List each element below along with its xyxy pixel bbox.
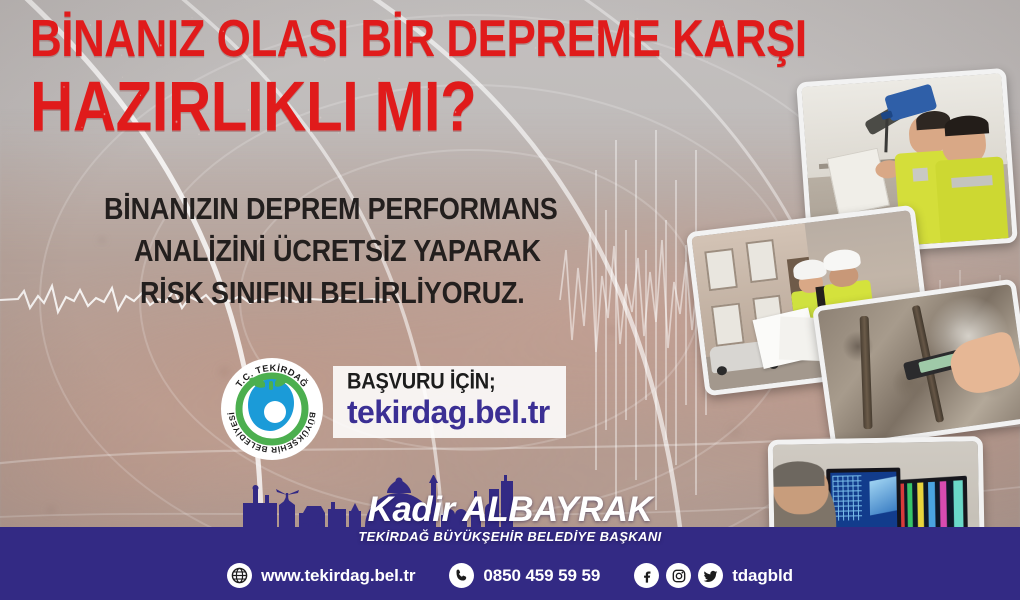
headline-line-2-text: HAZIRLIKLI MI?	[30, 74, 476, 139]
footer-social-handle[interactable]: tdagbld	[732, 566, 793, 586]
phone-icon	[449, 563, 474, 588]
globe-icon	[227, 563, 252, 588]
body-line-3: RİSK SINIFINI BELİRLİYORUZ.	[140, 278, 664, 308]
headline-line-1: BİNANIZ OLASI BİR DEPREME KARŞI	[30, 16, 710, 64]
footer-bar: www.tekirdag.bel.tr 0850 459 59 59	[0, 527, 1020, 600]
photo-collage	[680, 0, 1020, 600]
apply-url[interactable]: tekirdag.bel.tr	[347, 396, 550, 430]
facebook-icon[interactable]	[634, 563, 659, 588]
headline-block: BİNANIZ OLASI BİR DEPREME KARŞI HAZIRLIK…	[30, 16, 710, 130]
city-skyline-silhouette	[235, 475, 515, 527]
footer-social-group[interactable]: tdagbld	[634, 563, 793, 588]
social-icons	[634, 563, 723, 588]
apply-panel: BAŞVURU İÇİN; tekirdag.bel.tr	[333, 366, 566, 438]
municipality-logo: T.C. TEKİRDAĞ BÜYÜKŞEHİR BELEDİYESİ	[220, 357, 324, 461]
footer-phone[interactable]: 0850 459 59 59	[483, 566, 600, 586]
instagram-icon[interactable]	[666, 563, 691, 588]
body-copy-block: BİNANIZIN DEPREM PERFORMANS ANALİZİNİ ÜC…	[104, 196, 664, 322]
footer-contact-row: www.tekirdag.bel.tr 0850 459 59 59	[0, 563, 1020, 588]
footer-website[interactable]: www.tekirdag.bel.tr	[261, 566, 415, 586]
earthquake-awareness-poster: BİNANIZ OLASI BİR DEPREME KARŞI HAZIRLIK…	[0, 0, 1020, 600]
headline-line-1-text: BİNANIZ OLASI BİR DEPREME KARŞI	[30, 16, 807, 64]
footer-website-group[interactable]: www.tekirdag.bel.tr	[227, 563, 415, 588]
apply-label: BAŞVURU İÇİN;	[347, 371, 550, 394]
twitter-icon[interactable]	[698, 563, 723, 588]
body-line-1: BİNANIZIN DEPREM PERFORMANS	[104, 194, 664, 224]
headline-line-2: HAZIRLIKLI MI?	[30, 74, 710, 139]
body-line-2: ANALİZİNİ ÜCRETSİZ YAPARAK	[134, 236, 664, 266]
photo-caliper-rebar-measurement	[812, 278, 1020, 450]
footer-phone-group[interactable]: 0850 459 59 59	[449, 563, 600, 588]
